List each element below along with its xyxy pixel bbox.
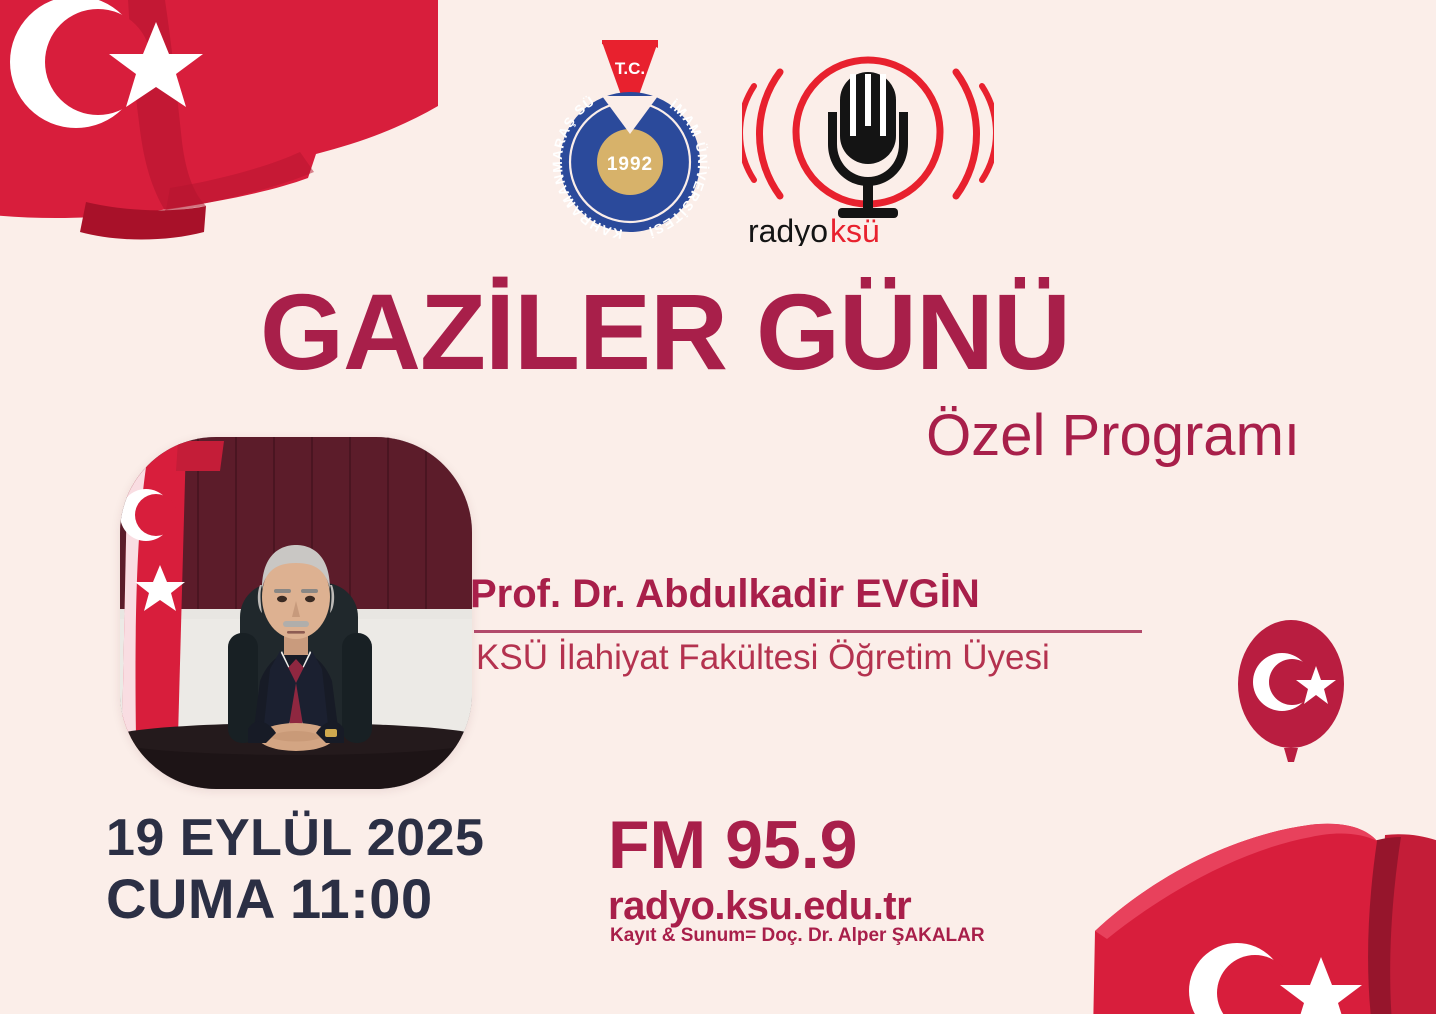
poster-canvas: T.C. 1992 KAHRAMANMARAŞ SÜTÇÜ İMAM ÜNİVE… — [0, 0, 1436, 1014]
turkish-flag-balloon-decoration — [1232, 612, 1350, 784]
event-date: 19 EYLÜL 2025 — [106, 808, 484, 868]
turkish-flag-top-left-decoration — [0, 0, 440, 256]
turkish-flag-bottom-right-decoration — [1085, 805, 1436, 1014]
radyoksu-logo: radyo ksü — [742, 46, 994, 246]
radio-frequency: FM 95.9 — [608, 806, 857, 884]
radio-website[interactable]: radyo.ksu.edu.tr — [608, 884, 911, 929]
seal-tc-label: T.C. — [615, 59, 645, 78]
speaker-photo — [120, 437, 472, 789]
seal-year-label: 1992 — [607, 154, 653, 175]
production-credit: Kayıt & Sunum= Doç. Dr. Alper ŞAKALAR — [610, 925, 985, 947]
speaker-divider — [474, 630, 1142, 633]
speaker-role: KSÜ İlahiyat Fakültesi Öğretim Üyesi — [476, 638, 1166, 678]
photo-flag-decoration — [120, 443, 186, 755]
university-seal-logo: T.C. 1992 KAHRAMANMARAŞ SÜTÇÜ İMAM ÜNİVE… — [540, 34, 720, 242]
event-day-time: CUMA 11:00 — [106, 866, 433, 931]
speaker-name: Prof. Dr. Abdulkadir EVGİN — [470, 572, 1160, 617]
radyoksu-word-red: ksü — [830, 213, 880, 246]
page-title: GAZİLER GÜNÜ — [0, 278, 1330, 386]
radyoksu-word-dark: radyo — [748, 213, 828, 246]
